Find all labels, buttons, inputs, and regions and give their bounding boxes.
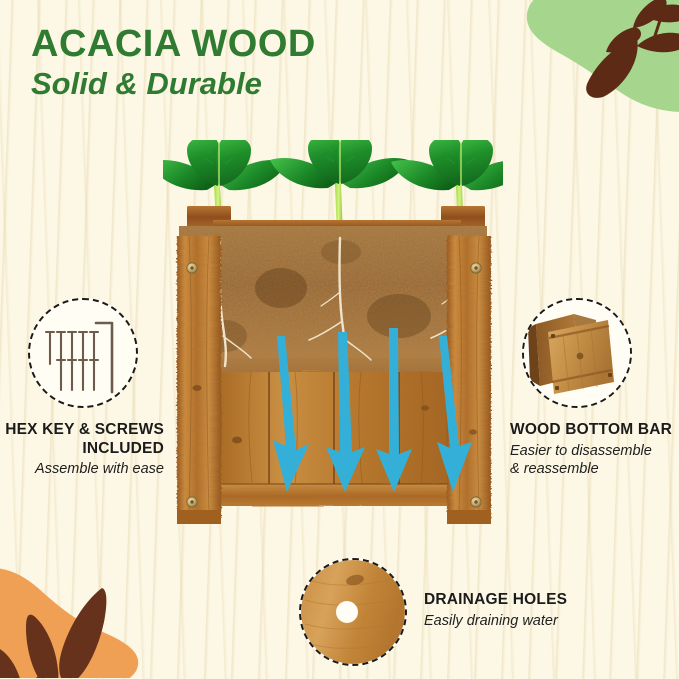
planter-cutaway-svg (163, 140, 503, 550)
green-blob-shape (527, 0, 679, 112)
feature-description: Easier to disassemble & reassemble (510, 442, 679, 480)
feature-text-wood-bottom-bar: WOOD BOTTOM BAR Easier to disassemble & … (508, 421, 679, 479)
screw-row-bottom (57, 360, 98, 390)
screw-bottom-right (471, 497, 481, 507)
brown-leaf-cluster (586, 0, 679, 98)
drainage-hole-disc-icon (299, 558, 407, 666)
seedling-3 (391, 140, 503, 190)
screw-top-left (187, 263, 197, 273)
feature-title-line1: HEX KEY & SCREWS (5, 421, 164, 438)
wood-bottom-bar-icon (522, 298, 632, 408)
planter-front-slats (205, 372, 463, 492)
feature-description: Easily draining water (424, 612, 567, 631)
page-subtitle: Solid & Durable (31, 67, 316, 102)
screw-top-right (471, 263, 481, 273)
feature-icon-hex-key-screws (28, 298, 138, 408)
feature-hex-key-screws[interactable]: HEX KEY & SCREWS INCLUDED Assemble with … (0, 298, 170, 479)
feature-title-line2: INCLUDED (82, 440, 164, 457)
screw-bottom-left (187, 497, 197, 507)
brown-leaf-cluster-bottom (0, 588, 106, 678)
planter-feet (177, 510, 491, 524)
feature-description-line1: Easier to disassemble (510, 443, 652, 459)
screws-and-hex-key-icon (28, 298, 138, 408)
product-illustration (163, 140, 503, 550)
feature-text-drainage-holes: DRAINAGE HOLES Easily draining water (424, 591, 567, 632)
feature-description: Assemble with ease (0, 460, 164, 479)
seedling-2 (270, 140, 408, 188)
feature-drainage-holes[interactable]: DRAINAGE HOLES Easily draining water (299, 558, 679, 666)
feature-icon-wood-bottom-bar (522, 298, 632, 408)
feature-title: WOOD BOTTOM BAR (510, 421, 679, 440)
infographic-canvas: ACACIA WOOD Solid & Durable (0, 0, 679, 679)
seedling-1 (163, 140, 287, 190)
headline-group: ACACIA WOOD Solid & Durable (31, 24, 316, 102)
feature-title: DRAINAGE HOLES (424, 591, 567, 610)
removable-bottom-panel (548, 320, 614, 394)
feature-icon-drainage-holes (299, 558, 407, 666)
planter-bottom-bar (205, 484, 463, 506)
hex-key-shape (96, 323, 112, 392)
bottom-left-decoration (0, 538, 199, 679)
feature-wood-bottom-bar[interactable]: WOOD BOTTOM BAR Easier to disassemble & … (508, 298, 679, 479)
feature-description-line2: & reassemble (510, 461, 599, 477)
page-title: ACACIA WOOD (31, 24, 316, 65)
feature-title: HEX KEY & SCREWS INCLUDED (0, 421, 164, 458)
orange-blob-shape (0, 568, 138, 678)
feature-text-hex-key-screws: HEX KEY & SCREWS INCLUDED Assemble with … (0, 421, 170, 479)
drainage-hole-opening (336, 601, 358, 623)
top-right-decoration (513, 0, 679, 134)
